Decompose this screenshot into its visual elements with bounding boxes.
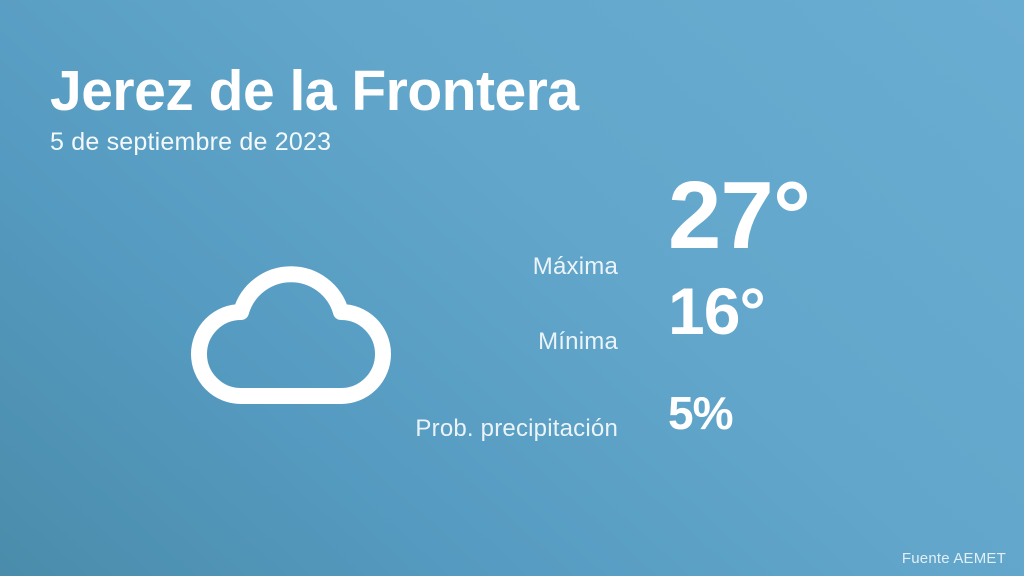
metric-row-maxima: Máxima 27° — [400, 168, 960, 278]
metric-value-minima: 16° — [668, 278, 765, 344]
weather-icon — [175, 252, 395, 412]
metrics-list: Máxima 27° Mínima 16° Prob. precipitació… — [400, 168, 960, 480]
metric-value-precipitacion: 5% — [668, 390, 732, 436]
weather-card: Jerez de la Frontera 5 de septiembre de … — [0, 0, 1024, 576]
city-title: Jerez de la Frontera — [50, 62, 579, 121]
metric-row-minima: Mínima 16° — [400, 278, 960, 390]
source-attribution: Fuente AEMET — [902, 550, 1006, 567]
metric-label-minima: Mínima — [400, 328, 668, 356]
metric-label-precipitacion: Prob. precipitación — [400, 415, 668, 443]
metric-value-maxima: 27° — [668, 168, 810, 264]
forecast-date: 5 de septiembre de 2023 — [50, 128, 579, 157]
metric-row-precipitacion: Prob. precipitación 5% — [400, 390, 960, 480]
cloud-icon — [175, 252, 395, 412]
header: Jerez de la Frontera 5 de septiembre de … — [50, 62, 579, 157]
metric-label-maxima: Máxima — [400, 253, 668, 281]
